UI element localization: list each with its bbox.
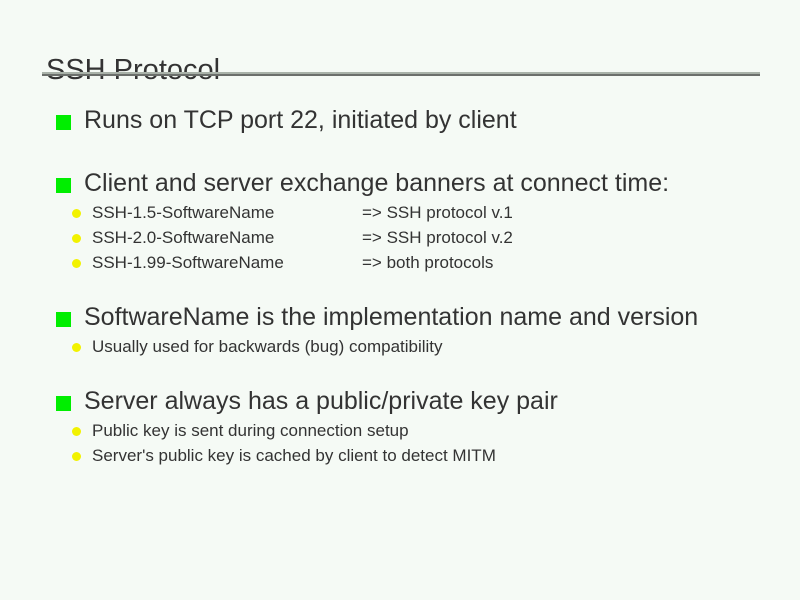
list-item: Client and server exchange banners at co… <box>0 167 800 200</box>
banner-row: SSH-1.99-SoftwareName=> both protocols <box>92 250 800 275</box>
banner-meaning: => SSH protocol v.1 <box>362 200 513 225</box>
banner-row: SSH-1.5-SoftwareName=> SSH protocol v.1 <box>92 200 800 225</box>
list-item: Server's public key is cached by client … <box>0 443 800 468</box>
spacer <box>0 275 800 301</box>
page-title: SSH Protocol <box>46 53 220 87</box>
dot-bullet-icon <box>72 259 81 268</box>
square-bullet-icon <box>56 115 71 130</box>
spacer <box>0 359 800 385</box>
banner-string: SSH-1.5-SoftwareName <box>92 200 362 225</box>
dot-bullet-icon <box>72 452 81 461</box>
dot-bullet-icon <box>72 343 81 352</box>
square-bullet-icon <box>56 396 71 411</box>
list-item: Usually used for backwards (bug) compati… <box>0 334 800 359</box>
title-divider <box>42 72 760 76</box>
list-item: SSH-1.99-SoftwareName=> both protocols <box>0 250 800 275</box>
list-item-label: Server always has a public/private key p… <box>84 387 558 415</box>
list-item-label: Usually used for backwards (bug) compati… <box>92 337 443 356</box>
slide: SSH Protocol Runs on TCP port 22, initia… <box>0 0 800 600</box>
slide-body: Runs on TCP port 22, initiated by client… <box>0 104 800 468</box>
list-item-label: Public key is sent during connection set… <box>92 421 409 440</box>
dot-bullet-icon <box>72 234 81 243</box>
banner-string: SSH-1.99-SoftwareName <box>92 250 362 275</box>
list-item: Public key is sent during connection set… <box>0 418 800 443</box>
list-item: Server always has a public/private key p… <box>0 385 800 418</box>
dot-bullet-icon <box>72 427 81 436</box>
square-bullet-icon <box>56 178 71 193</box>
banner-meaning: => SSH protocol v.2 <box>362 225 513 250</box>
list-item-label: Client and server exchange banners at co… <box>84 169 669 197</box>
spacer <box>0 137 800 167</box>
list-item: SSH-1.5-SoftwareName=> SSH protocol v.1 <box>0 200 800 225</box>
banner-string: SSH-2.0-SoftwareName <box>92 225 362 250</box>
banner-meaning: => both protocols <box>362 250 493 275</box>
square-bullet-icon <box>56 312 71 327</box>
list-item-label: Server's public key is cached by client … <box>92 446 496 465</box>
list-item-label: Runs on TCP port 22, initiated by client <box>84 106 517 134</box>
list-item-label: SoftwareName is the implementation name … <box>84 303 698 331</box>
banner-row: SSH-2.0-SoftwareName=> SSH protocol v.2 <box>92 225 800 250</box>
list-item: SSH-2.0-SoftwareName=> SSH protocol v.2 <box>0 225 800 250</box>
dot-bullet-icon <box>72 209 81 218</box>
title-divider-shadow <box>42 74 760 76</box>
list-item: SoftwareName is the implementation name … <box>0 301 800 334</box>
list-item: Runs on TCP port 22, initiated by client <box>0 104 800 137</box>
